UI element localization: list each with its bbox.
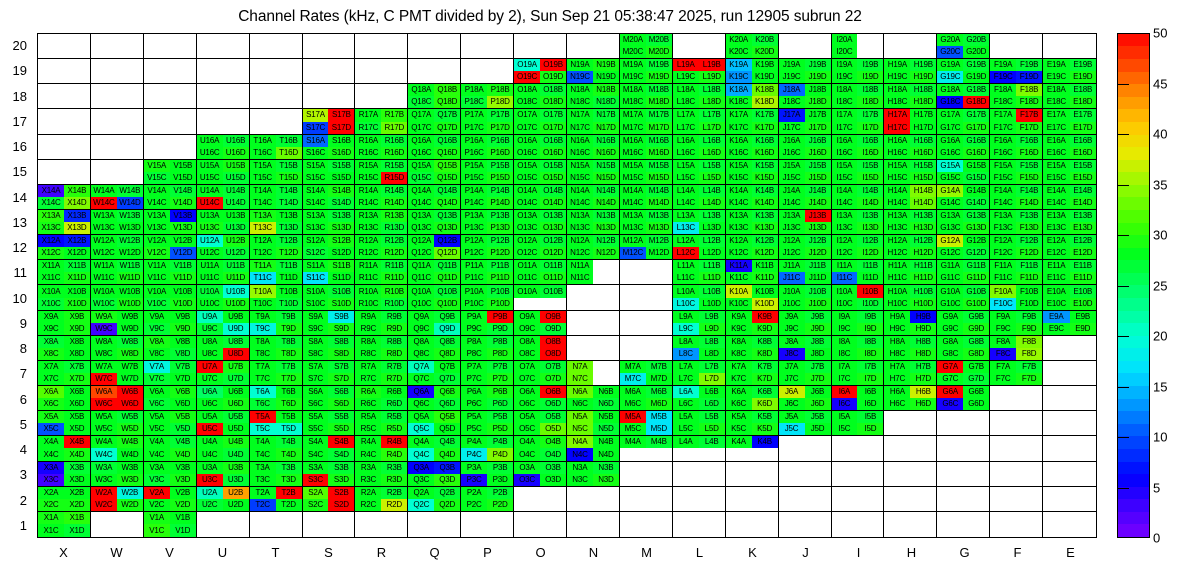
channel-l18d[interactable]: L18D [699,96,725,108]
channel-o17c[interactable]: O17C [514,122,540,134]
channel-k7a[interactable]: K7A [726,361,752,373]
channel-q13b[interactable]: Q13B [434,210,460,222]
channel-h11b[interactable]: H11B [910,260,936,272]
channel-m5d[interactable]: M5D [646,423,672,435]
channel-p9b[interactable]: P9B [487,311,513,323]
channel-q18a[interactable]: Q18A [408,84,434,96]
channel-r14b[interactable]: R14B [381,185,407,197]
channel-m14c[interactable]: M14C [620,197,646,209]
channel-u3d[interactable]: U3D [223,474,249,486]
channel-u12a[interactable]: U12A [197,235,223,247]
channel-h6a[interactable]: H6A [884,386,910,398]
channel-f11a[interactable]: F11A [990,260,1016,272]
channel-v4d[interactable]: V4D [170,448,196,460]
channel-t6b[interactable]: T6B [276,386,302,398]
channel-j14a[interactable]: J14A [779,185,805,197]
channel-n12d[interactable]: N12D [593,247,619,259]
channel-w12c[interactable]: W12C [91,247,117,259]
channel-f15c[interactable]: F15C [990,172,1016,184]
channel-o5a[interactable]: O5A [514,411,540,423]
channel-e19d[interactable]: E19D [1070,71,1096,83]
channel-g6b[interactable]: G6B [963,386,989,398]
channel-q14d[interactable]: Q14D [434,197,460,209]
channel-u15a[interactable]: U15A [197,160,223,172]
channel-o7a[interactable]: O7A [514,361,540,373]
channel-o7d[interactable]: O7D [540,373,566,385]
channel-m17c[interactable]: M17C [620,122,646,134]
channel-i6a[interactable]: I6A [832,386,858,398]
channel-t6a[interactable]: T6A [250,386,276,398]
channel-q8d[interactable]: Q8D [434,348,460,360]
channel-x5b[interactable]: X5B [64,411,90,423]
channel-x4a[interactable]: X4A [38,436,64,448]
channel-h9d[interactable]: H9D [910,323,936,335]
channel-k15c[interactable]: K15C [726,172,752,184]
channel-e17d[interactable]: E17D [1070,122,1096,134]
channel-i10c[interactable]: I10C [832,298,858,310]
channel-n6b[interactable]: N6B [593,386,619,398]
channel-e19c[interactable]: E19C [1043,71,1069,83]
channel-h15d[interactable]: H15D [910,172,936,184]
channel-q13d[interactable]: Q13D [434,222,460,234]
channel-g14d[interactable]: G14D [963,197,989,209]
channel-w5c[interactable]: W5C [91,423,117,435]
channel-k15b[interactable]: K15B [752,160,778,172]
channel-x10c[interactable]: X10C [38,298,64,310]
channel-n18a[interactable]: N18A [567,84,593,96]
channel-g20d[interactable]: G20D [963,46,989,58]
channel-i10a[interactable]: I10A [832,285,858,297]
channel-o6b[interactable]: O6B [540,386,566,398]
channel-q17a[interactable]: Q17A [408,109,434,121]
channel-e12d[interactable]: E12D [1070,247,1096,259]
channel-j10a[interactable]: J10A [779,285,805,297]
channel-f12c[interactable]: F12C [990,247,1016,259]
channel-r6d[interactable]: R6D [381,398,407,410]
channel-i9b[interactable]: I9B [857,311,883,323]
channel-n5b[interactable]: N5B [593,411,619,423]
channel-v12a[interactable]: V12A [144,235,170,247]
channel-m16c[interactable]: M16C [620,147,646,159]
channel-p18b[interactable]: P18B [487,84,513,96]
channel-u3a[interactable]: U3A [197,462,223,474]
channel-n11a[interactable]: N11A [567,260,593,272]
channel-p10d[interactable]: P10D [487,298,513,310]
channel-f13c[interactable]: F13C [990,222,1016,234]
channel-f18d[interactable]: F18D [1016,96,1042,108]
channel-x6c[interactable]: X6C [38,398,64,410]
channel-s17d[interactable]: S17D [328,122,354,134]
channel-w9d[interactable]: W9D [117,323,143,335]
channel-p5d[interactable]: P5D [487,423,513,435]
channel-l17c[interactable]: L17C [673,122,699,134]
channel-l5c[interactable]: L5C [673,423,699,435]
channel-h11a[interactable]: H11A [884,260,910,272]
channel-i17d[interactable]: I17D [857,122,883,134]
channel-e19a[interactable]: E19A [1043,59,1069,71]
channel-w4d[interactable]: W4D [117,448,143,460]
channel-f17d[interactable]: F17D [1016,122,1042,134]
channel-w4c[interactable]: W4C [91,448,117,460]
channel-p2a[interactable]: P2A [461,487,487,499]
channel-f8a[interactable]: F8A [990,336,1016,348]
channel-u14c[interactable]: U14C [197,197,223,209]
channel-g14b[interactable]: G14B [963,185,989,197]
channel-l17b[interactable]: L17B [699,109,725,121]
channel-r8a[interactable]: R8A [355,336,381,348]
channel-v12c[interactable]: V12C [144,247,170,259]
channel-h15c[interactable]: H15C [884,172,910,184]
channel-h14d[interactable]: H14D [910,197,936,209]
channel-q4a[interactable]: Q4A [408,436,434,448]
channel-o5b[interactable]: O5B [540,411,566,423]
channel-x5d[interactable]: X5D [64,423,90,435]
channel-k14b[interactable]: K14B [752,185,778,197]
channel-h10a[interactable]: H10A [884,285,910,297]
channel-m5a[interactable]: M5A [620,411,646,423]
channel-o3b[interactable]: O3B [540,462,566,474]
channel-v13a[interactable]: V13A [144,210,170,222]
channel-m12a[interactable]: M12A [620,235,646,247]
channel-l7a[interactable]: L7A [673,361,699,373]
channel-p3c[interactable]: P3C [461,474,487,486]
channel-m18d[interactable]: M18D [646,96,672,108]
channel-m19c[interactable]: M19C [620,71,646,83]
channel-s15d[interactable]: S15D [328,172,354,184]
channel-j9c[interactable]: J9C [779,323,805,335]
channel-g13b[interactable]: G13B [963,210,989,222]
channel-t3b[interactable]: T3B [276,462,302,474]
channel-j16b[interactable]: J16B [805,135,831,147]
channel-j17a[interactable]: J17A [779,109,805,121]
channel-k16c[interactable]: K16C [726,147,752,159]
channel-r2c[interactable]: R2C [355,499,381,511]
channel-s9b[interactable]: S9B [328,311,354,323]
channel-k8a[interactable]: K8A [726,336,752,348]
channel-m6b[interactable]: M6B [646,386,672,398]
channel-v6b[interactable]: V6B [170,386,196,398]
channel-r14d[interactable]: R14D [381,197,407,209]
channel-x8c[interactable]: X8C [38,348,64,360]
channel-g13c[interactable]: G13C [937,222,963,234]
channel-f14b[interactable]: F14B [1016,185,1042,197]
channel-f18c[interactable]: F18C [990,96,1016,108]
channel-l15c[interactable]: L15C [673,172,699,184]
channel-u8a[interactable]: U8A [197,336,223,348]
channel-x11c[interactable]: X11C [38,272,64,284]
channel-e18d[interactable]: E18D [1070,96,1096,108]
channel-h13a[interactable]: H13A [884,210,910,222]
channel-q17d[interactable]: Q17D [434,122,460,134]
channel-s17b[interactable]: S17B [328,109,354,121]
channel-v7b[interactable]: V7B [170,361,196,373]
channel-t11d[interactable]: T11D [276,272,302,284]
channel-p16c[interactable]: P16C [461,147,487,159]
channel-o11d[interactable]: O11D [540,272,566,284]
channel-g8a[interactable]: G8A [937,336,963,348]
channel-n3a[interactable]: N3A [567,462,593,474]
channel-u7b[interactable]: U7B [223,361,249,373]
channel-m18b[interactable]: M18B [646,84,672,96]
channel-x9d[interactable]: X9D [64,323,90,335]
channel-u3c[interactable]: U3C [197,474,223,486]
channel-q11d[interactable]: Q11D [434,272,460,284]
channel-n5a[interactable]: N5A [567,411,593,423]
channel-v7a[interactable]: V7A [144,361,170,373]
channel-p4c[interactable]: P4C [461,448,487,460]
channel-p14a[interactable]: P14A [461,185,487,197]
channel-g16b[interactable]: G16B [963,135,989,147]
channel-j11c[interactable]: J11C [779,272,805,284]
channel-h9a[interactable]: H9A [884,311,910,323]
channel-f15d[interactable]: F15D [1016,172,1042,184]
channel-g15c[interactable]: G15C [937,172,963,184]
channel-i17a[interactable]: I17A [832,109,858,121]
channel-p6b[interactable]: P6B [487,386,513,398]
channel-g6d[interactable]: G6D [963,398,989,410]
channel-o16d[interactable]: O16D [540,147,566,159]
channel-j14d[interactable]: J14D [805,197,831,209]
channel-e11c[interactable]: E11C [1043,272,1069,284]
channel-q15d[interactable]: Q15D [434,172,460,184]
channel-p10a[interactable]: P10A [461,285,487,297]
channel-x9a[interactable]: X9A [38,311,64,323]
channel-n18d[interactable]: N18D [593,96,619,108]
channel-s6b[interactable]: S6B [328,386,354,398]
channel-o14c[interactable]: O14C [514,197,540,209]
channel-w6c[interactable]: W6C [91,398,117,410]
channel-t8a[interactable]: T8A [250,336,276,348]
channel-i10b[interactable]: I10B [857,285,883,297]
channel-j9d[interactable]: J9D [805,323,831,335]
channel-w6b[interactable]: W6B [117,386,143,398]
channel-o3c[interactable]: O3C [514,474,540,486]
channel-g7b[interactable]: G7B [963,361,989,373]
channel-w5b[interactable]: W5B [117,411,143,423]
channel-k6c[interactable]: K6C [726,398,752,410]
channel-i18b[interactable]: I18B [857,84,883,96]
channel-r11b[interactable]: R11B [381,260,407,272]
channel-t8b[interactable]: T8B [276,336,302,348]
channel-l5b[interactable]: L5B [699,411,725,423]
channel-g17a[interactable]: G17A [937,109,963,121]
channel-q17b[interactable]: Q17B [434,109,460,121]
channel-s3b[interactable]: S3B [328,462,354,474]
channel-w12a[interactable]: W12A [91,235,117,247]
channel-x14d[interactable]: X14D [64,197,90,209]
channel-m15b[interactable]: M15B [646,160,672,172]
channel-e13d[interactable]: E13D [1070,222,1096,234]
channel-s5b[interactable]: S5B [328,411,354,423]
channel-r14a[interactable]: R14A [355,185,381,197]
channel-n15a[interactable]: N15A [567,160,593,172]
channel-t16b[interactable]: T16B [276,135,302,147]
channel-g8d[interactable]: G8D [963,348,989,360]
channel-o6d[interactable]: O6D [540,398,566,410]
channel-t10a[interactable]: T10A [250,285,276,297]
channel-o13b[interactable]: O13B [540,210,566,222]
channel-j7d[interactable]: J7D [805,373,831,385]
channel-r4b[interactable]: R4B [381,436,407,448]
channel-k5d[interactable]: K5D [752,423,778,435]
channel-m20c[interactable]: M20C [620,46,646,58]
channel-e14b[interactable]: E14B [1070,185,1096,197]
channel-g11d[interactable]: G11D [963,272,989,284]
channel-m6c[interactable]: M6C [620,398,646,410]
channel-i14b[interactable]: I14B [857,185,883,197]
channel-l9b[interactable]: L9B [699,311,725,323]
channel-o12c[interactable]: O12C [514,247,540,259]
channel-l13b[interactable]: L13B [699,210,725,222]
channel-v4a[interactable]: V4A [144,436,170,448]
channel-p18c[interactable]: P18C [461,96,487,108]
channel-n16b[interactable]: N16B [593,135,619,147]
channel-r8c[interactable]: R8C [355,348,381,360]
channel-x5c[interactable]: X5C [38,423,64,435]
channel-g12c[interactable]: G12C [937,247,963,259]
channel-j16a[interactable]: J16A [779,135,805,147]
channel-h8a[interactable]: H8A [884,336,910,348]
channel-l10d[interactable]: L10D [699,298,725,310]
channel-v3a[interactable]: V3A [144,462,170,474]
channel-q6b[interactable]: Q6B [434,386,460,398]
channel-v1d[interactable]: V1D [170,524,196,537]
channel-r17d[interactable]: R17D [381,122,407,134]
channel-j19d[interactable]: J19D [805,71,831,83]
channel-j18a[interactable]: J18A [779,84,805,96]
channel-x2a[interactable]: X2A [38,487,64,499]
channel-t3c[interactable]: T3C [250,474,276,486]
channel-w10a[interactable]: W10A [91,285,117,297]
channel-r9d[interactable]: R9D [381,323,407,335]
channel-s16a[interactable]: S16A [303,135,329,147]
channel-i15b[interactable]: I15B [857,160,883,172]
channel-v2d[interactable]: V2D [170,499,196,511]
channel-s3a[interactable]: S3A [303,462,329,474]
channel-h19c[interactable]: H19C [884,71,910,83]
channel-k13d[interactable]: K13D [752,222,778,234]
channel-h14a[interactable]: H14A [884,185,910,197]
channel-x10b[interactable]: X10B [64,285,90,297]
channel-h8c[interactable]: H8C [884,348,910,360]
channel-f11c[interactable]: F11C [990,272,1016,284]
channel-h10c[interactable]: H10C [884,298,910,310]
channel-l9a[interactable]: L9A [673,311,699,323]
channel-n13b[interactable]: N13B [593,210,619,222]
channel-v5b[interactable]: V5B [170,411,196,423]
channel-o18a[interactable]: O18A [514,84,540,96]
channel-u10c[interactable]: U10C [197,298,223,310]
channel-i8a[interactable]: I8A [832,336,858,348]
channel-p12b[interactable]: P12B [487,235,513,247]
channel-q15a[interactable]: Q15A [408,160,434,172]
channel-o17a[interactable]: O17A [514,109,540,121]
channel-o15c[interactable]: O15C [514,172,540,184]
channel-v6c[interactable]: V6C [144,398,170,410]
channel-s16d[interactable]: S16D [328,147,354,159]
channel-h13c[interactable]: H13C [884,222,910,234]
channel-l13d[interactable]: L13D [699,222,725,234]
channel-s6c[interactable]: S6C [303,398,329,410]
channel-o16a[interactable]: O16A [514,135,540,147]
channel-t12b[interactable]: T12B [276,235,302,247]
channel-i9d[interactable]: I9D [857,323,883,335]
channel-v15d[interactable]: V15D [170,172,196,184]
channel-u4d[interactable]: U4D [223,448,249,460]
channel-o4a[interactable]: O4A [514,436,540,448]
channel-q11c[interactable]: Q11C [408,272,434,284]
channel-u7d[interactable]: U7D [223,373,249,385]
channel-x14c[interactable]: X14C [38,197,64,209]
channel-w11d[interactable]: W11D [117,272,143,284]
channel-j7a[interactable]: J7A [779,361,805,373]
channel-o11c[interactable]: O11C [514,272,540,284]
channel-s11d[interactable]: S11D [328,272,354,284]
channel-o8b[interactable]: O8B [540,336,566,348]
channel-s7b[interactable]: S7B [328,361,354,373]
channel-t14c[interactable]: T14C [250,197,276,209]
channel-o12b[interactable]: O12B [540,235,566,247]
channel-q7c[interactable]: Q7C [408,373,434,385]
channel-t14a[interactable]: T14A [250,185,276,197]
channel-k9c[interactable]: K9C [726,323,752,335]
channel-p9c[interactable]: P9C [461,323,487,335]
channel-i19d[interactable]: I19D [857,71,883,83]
channel-m18c[interactable]: M18C [620,96,646,108]
channel-f14a[interactable]: F14A [990,185,1016,197]
channel-i13c[interactable]: I13C [832,222,858,234]
channel-p12a[interactable]: P12A [461,235,487,247]
channel-q8a[interactable]: Q8A [408,336,434,348]
channel-j16c[interactable]: J16C [779,147,805,159]
channel-p9a[interactable]: P9A [461,311,487,323]
channel-f17c[interactable]: F17C [990,122,1016,134]
channel-x9c[interactable]: X9C [38,323,64,335]
channel-e16c[interactable]: E16C [1043,147,1069,159]
channel-n19b[interactable]: N19B [593,59,619,71]
channel-t14b[interactable]: T14B [276,185,302,197]
channel-v9d[interactable]: V9D [170,323,196,335]
channel-v10b[interactable]: V10B [170,285,196,297]
channel-r10d[interactable]: R10D [381,298,407,310]
channel-t4c[interactable]: T4C [250,448,276,460]
channel-o3d[interactable]: O3D [540,474,566,486]
channel-o19b[interactable]: O19B [540,59,566,71]
channel-i5b[interactable]: I5B [857,411,883,423]
channel-i11c[interactable]: I11C [832,272,858,284]
channel-u7c[interactable]: U7C [197,373,223,385]
channel-o16c[interactable]: O16C [514,147,540,159]
channel-h10b[interactable]: H10B [910,285,936,297]
channel-k6b[interactable]: K6B [752,386,778,398]
channel-x8a[interactable]: X8A [38,336,64,348]
channel-k18d[interactable]: K18D [752,96,778,108]
channel-h12a[interactable]: H12A [884,235,910,247]
channel-h9b[interactable]: H9B [910,311,936,323]
channel-v9a[interactable]: V9A [144,311,170,323]
channel-g6a[interactable]: G6A [937,386,963,398]
channel-l8d[interactable]: L8D [699,348,725,360]
channel-t13c[interactable]: T13C [250,222,276,234]
channel-v11b[interactable]: V11B [170,260,196,272]
channel-r4c[interactable]: R4C [355,448,381,460]
channel-i8d[interactable]: I8D [857,348,883,360]
channel-o14a[interactable]: O14A [514,185,540,197]
channel-f12d[interactable]: F12D [1016,247,1042,259]
channel-l13c[interactable]: L13C [673,222,699,234]
channel-r7d[interactable]: R7D [381,373,407,385]
channel-q5c[interactable]: Q5C [408,423,434,435]
